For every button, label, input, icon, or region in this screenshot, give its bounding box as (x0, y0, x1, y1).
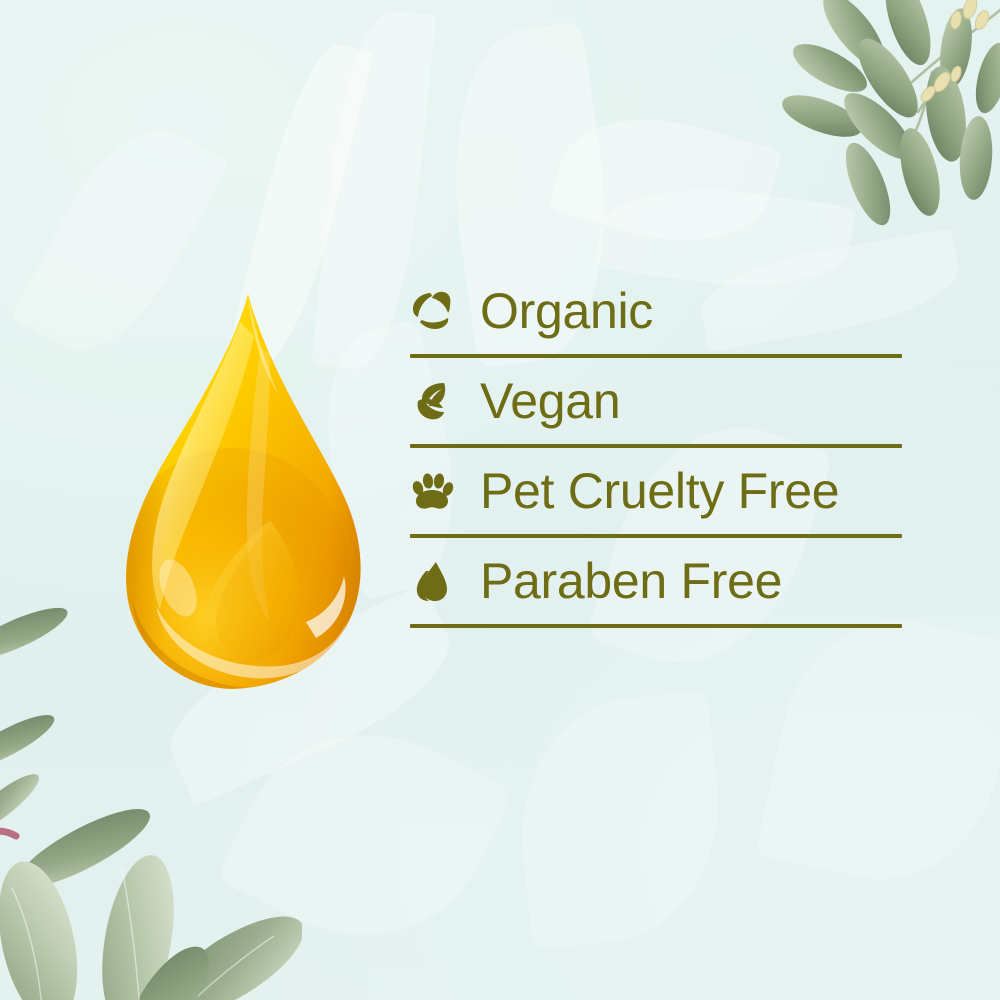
oil-droplet (120, 288, 376, 696)
organic-leaves-icon (410, 288, 454, 334)
vegan-leaf-icon (410, 378, 454, 424)
droplet-flame-icon (410, 558, 454, 604)
feature-row-paraben-free: Paraben Free (410, 538, 902, 624)
feature-row-vegan: Vegan (410, 358, 902, 444)
feature-list: Organic Vegan (410, 268, 902, 628)
feature-label: Paraben Free (480, 556, 782, 606)
feature-divider (410, 624, 902, 628)
feature-row-pet-cruelty-free: Pet Cruelty Free (410, 448, 902, 534)
paw-print-icon (410, 468, 454, 514)
feature-label: Pet Cruelty Free (480, 466, 839, 516)
feature-row-organic: Organic (410, 268, 902, 354)
feature-label: Vegan (480, 376, 620, 426)
infographic-canvas: Organic Vegan (0, 0, 1000, 1000)
feature-label: Organic (480, 286, 653, 336)
